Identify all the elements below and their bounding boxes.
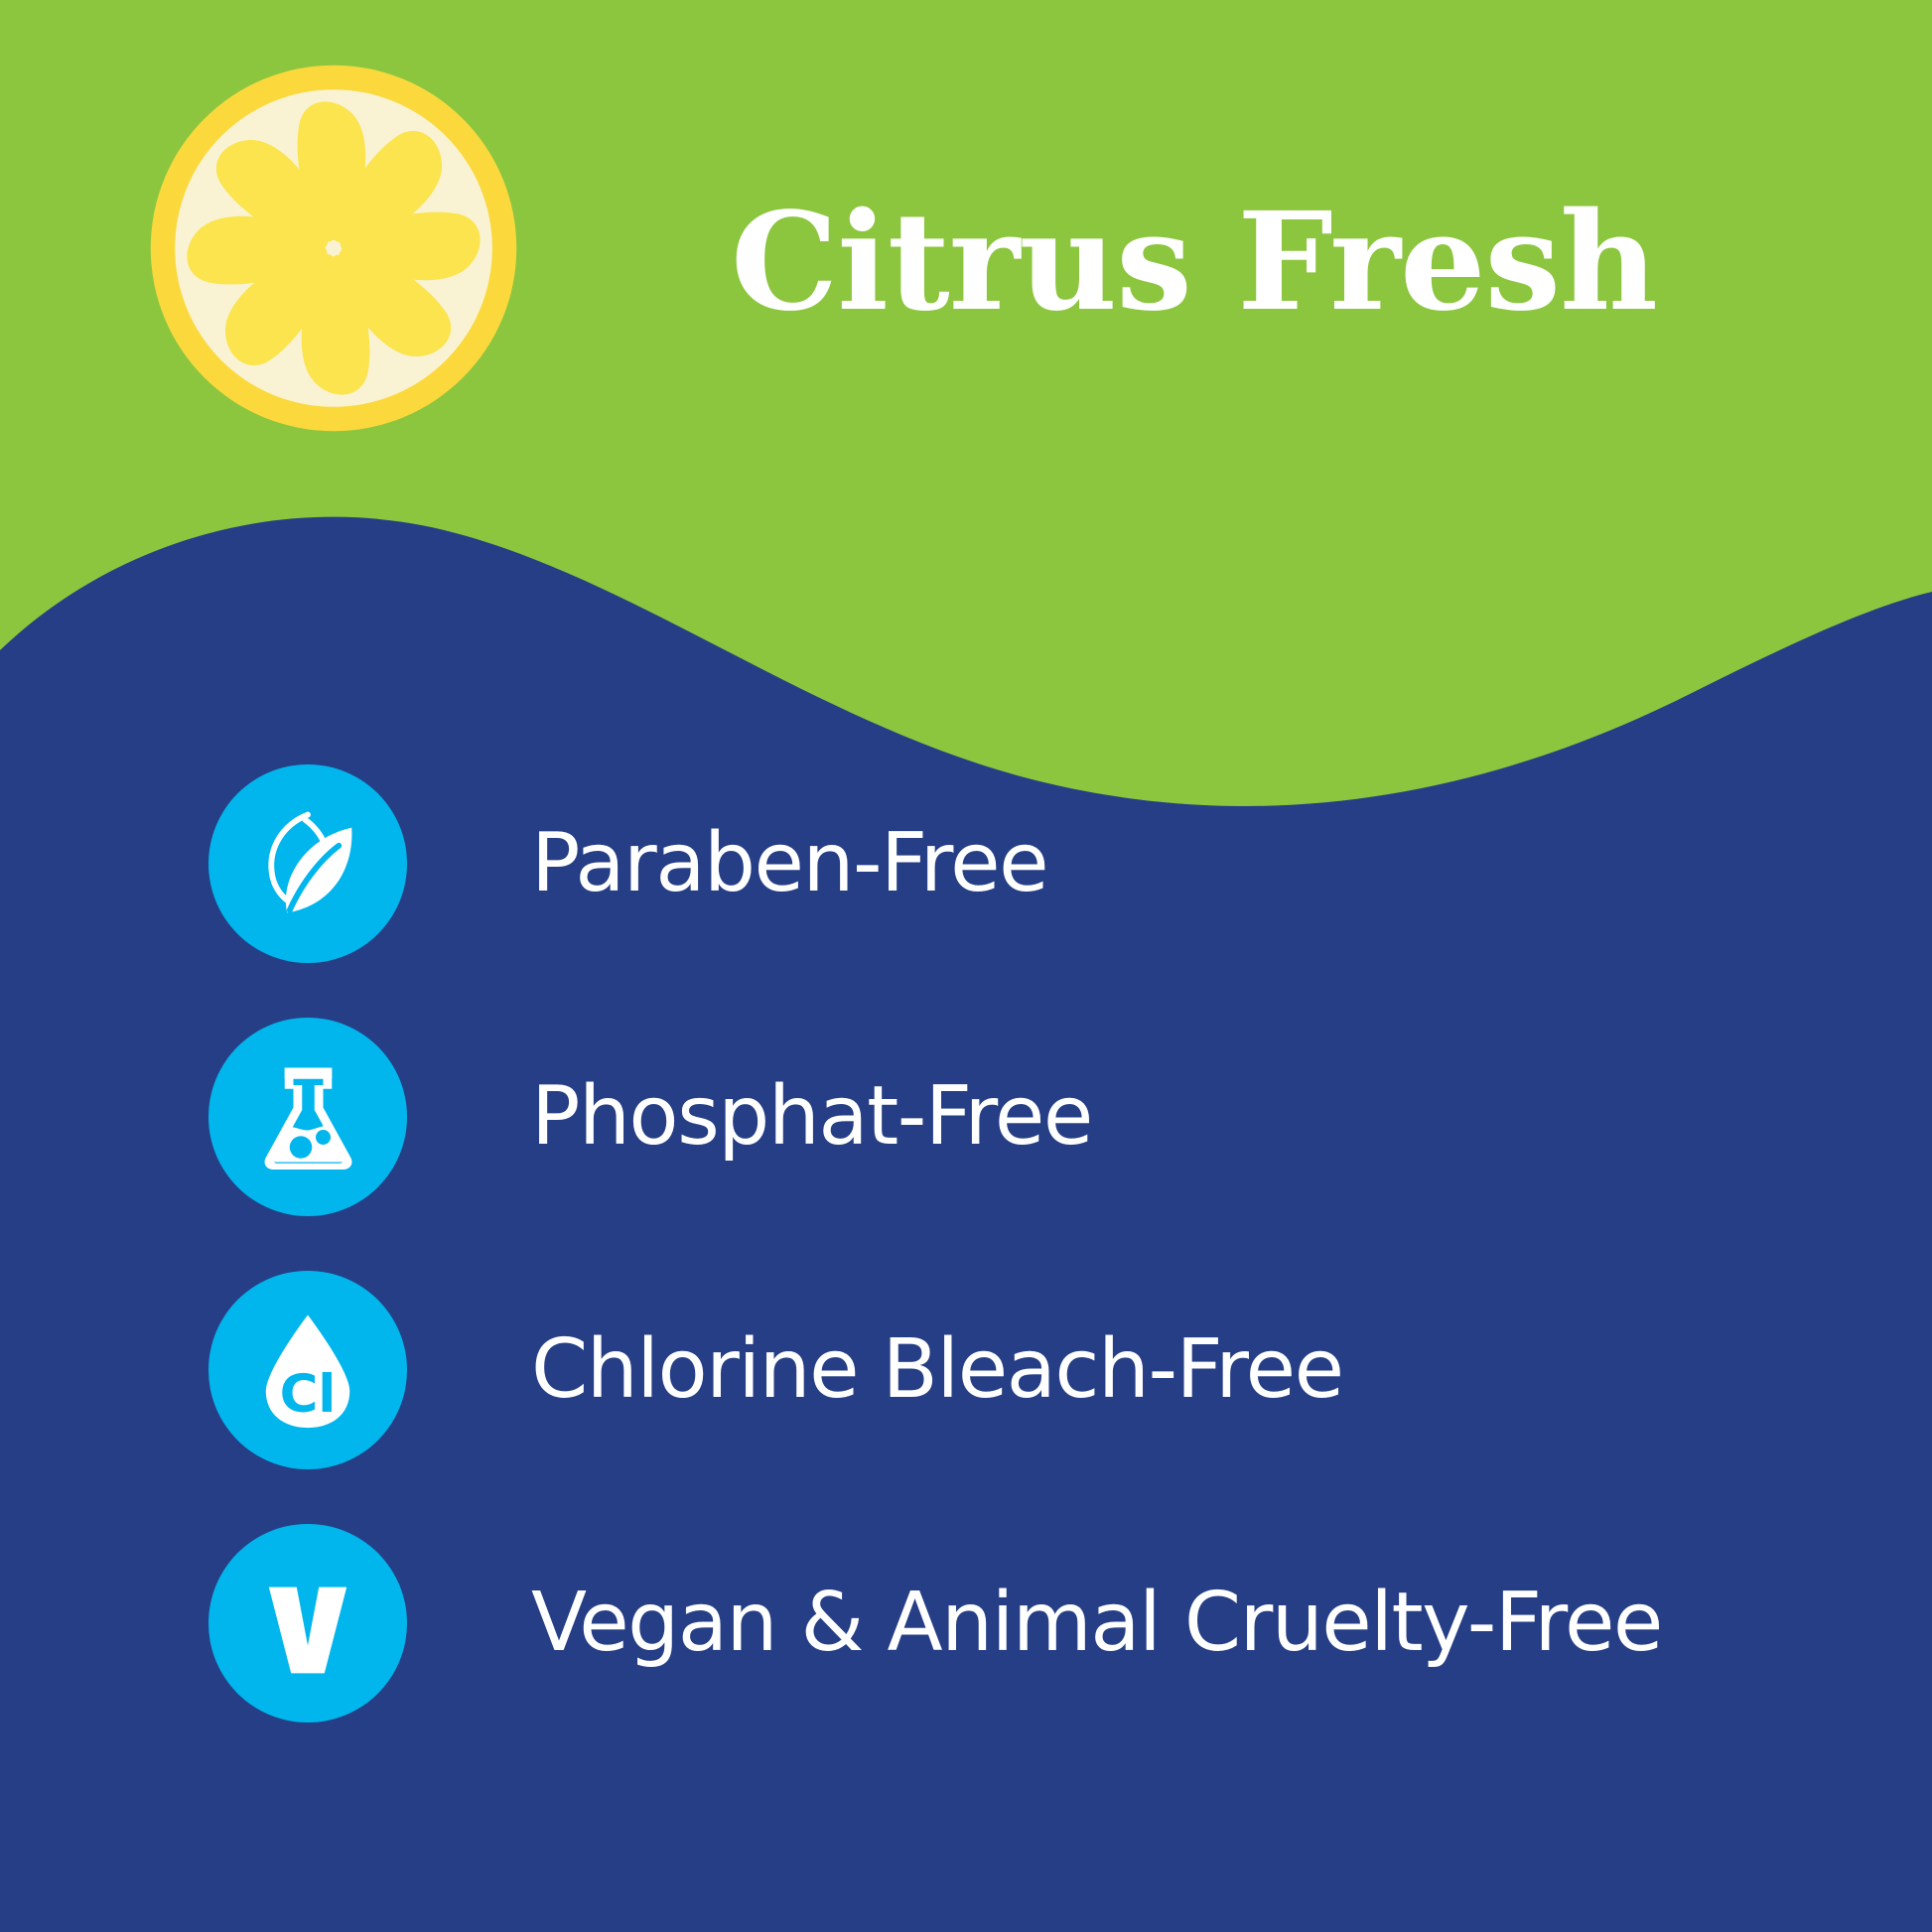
flask-icon (246, 1055, 370, 1179)
leaf-icon (243, 799, 372, 928)
vegan-badge (208, 1524, 407, 1723)
list-item: Cl Chlorine Bleach-Free (0, 1271, 1932, 1469)
list-item: Phosphat-Free (0, 1018, 1932, 1216)
flask-badge (208, 1018, 407, 1216)
list-item: Paraben-Free (0, 764, 1932, 963)
list-item-label: Paraben-Free (531, 823, 1047, 904)
list-item-label: Chlorine Bleach-Free (531, 1329, 1343, 1411)
header: Citrus Fresh (0, 0, 1932, 596)
leaf-badge (208, 764, 407, 963)
vegan-v-icon (238, 1554, 377, 1693)
droplet-cl-icon: Cl (242, 1305, 373, 1436)
lemon-slice-icon (147, 62, 520, 435)
droplet-badge: Cl (208, 1271, 407, 1469)
svg-text:Cl: Cl (280, 1364, 337, 1425)
list-item-label: Phosphat-Free (531, 1076, 1092, 1158)
feature-list: Paraben-Free Phosphat-Free (0, 764, 1932, 1777)
page-title: Citrus Fresh (731, 195, 1823, 330)
list-item-label: Vegan & Animal Cruelty-Free (531, 1583, 1662, 1664)
list-item: Vegan & Animal Cruelty-Free (0, 1524, 1932, 1723)
citrus-fresh-poster: Citrus Fresh Paraben-Free (0, 0, 1932, 1932)
